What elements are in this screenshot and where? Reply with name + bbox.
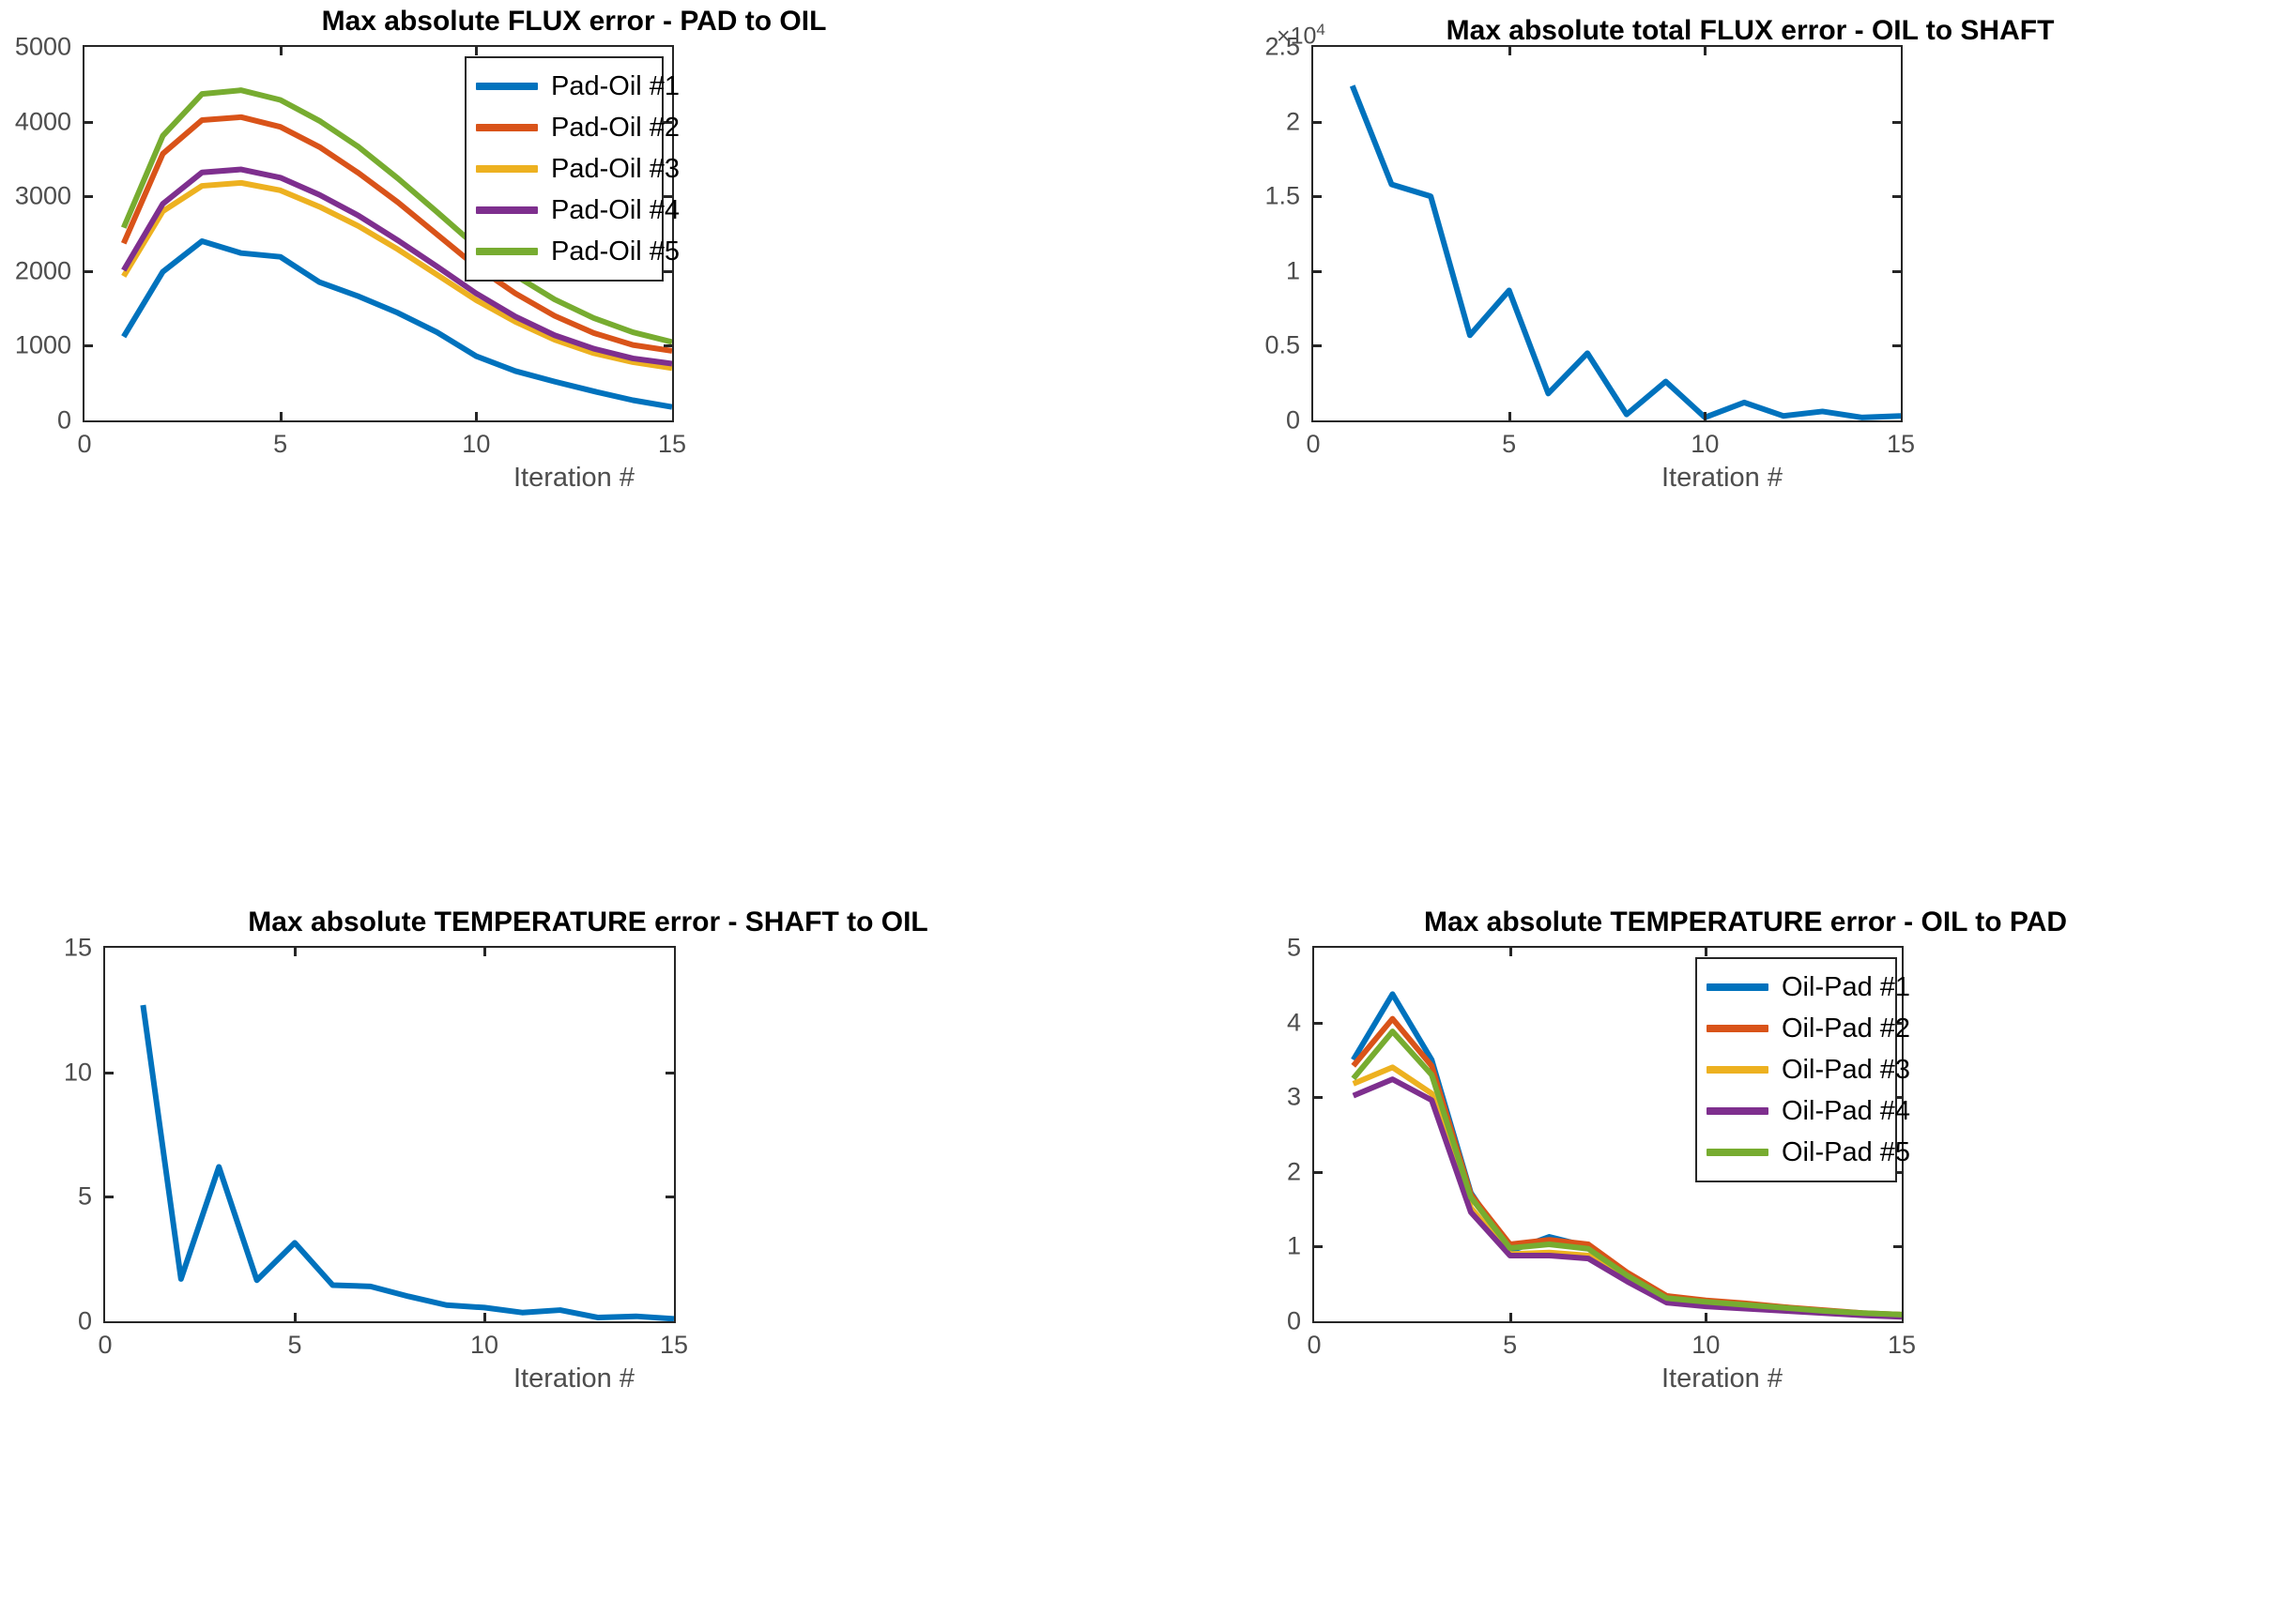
legend-item[interactable]: Oil-Pad #2 (1707, 1008, 1884, 1049)
plot-area (103, 946, 676, 1323)
y-tick-label: 3 (1148, 1083, 1301, 1112)
legend-color-swatch (476, 206, 538, 214)
y-tick-mark (1314, 1096, 1323, 1099)
x-tick-label: 15 (660, 1331, 688, 1360)
legend-label: Oil-Pad #1 (1782, 972, 1910, 1003)
legend-item[interactable]: Pad-Oil #1 (476, 66, 651, 107)
y-tick-label: 0.5 (1148, 331, 1300, 360)
x-tick-label: 15 (1887, 430, 1915, 459)
subplot-total-flux-oil-to-shaft: Max absolute total FLUX error - OIL to S… (1148, 0, 2296, 526)
y-tick-label: 2000 (0, 256, 71, 285)
y-tick-mark (1314, 1171, 1323, 1174)
y-tick-mark (105, 1196, 114, 1198)
legend-item[interactable]: Oil-Pad #4 (1707, 1090, 1884, 1132)
y-tick-label: 1.5 (1148, 182, 1300, 211)
y-tick-mark (1313, 195, 1322, 198)
y-tick-label: 10 (0, 1058, 92, 1087)
x-tick-label: 10 (462, 430, 490, 459)
subplot-title: Max absolute total FLUX error - OIL to S… (1204, 17, 2296, 45)
x-tick-mark (294, 1313, 297, 1321)
x-tick-mark (1509, 948, 1512, 956)
y-tick-label: 0 (0, 1307, 92, 1336)
x-tick-mark (1705, 1313, 1707, 1321)
legend-item[interactable]: Pad-Oil #3 (476, 148, 651, 190)
legend-color-swatch (476, 165, 538, 173)
plot-area (1311, 45, 1903, 422)
legend-item[interactable]: Oil-Pad #1 (1707, 967, 1884, 1008)
x-tick-mark (1508, 412, 1511, 420)
legend-item[interactable]: Oil-Pad #5 (1707, 1132, 1884, 1173)
plot-lines (1313, 47, 1901, 420)
y-tick-mark (84, 195, 93, 198)
x-tick-label: 10 (470, 1331, 498, 1360)
y-tick-mark (666, 1072, 674, 1074)
y-tick-label: 1 (1148, 256, 1300, 285)
y-tick-label: 1000 (0, 331, 71, 360)
x-tick-mark (280, 47, 283, 55)
y-tick-label: 0 (1148, 406, 1300, 435)
y-tick-label: 4000 (0, 107, 71, 136)
x-axis-label: Iteration # (1148, 1364, 2296, 1394)
y-tick-label: 0 (0, 406, 71, 435)
x-tick-mark (294, 948, 297, 956)
subplot-temperature-shaft-to-oil: Max absolute TEMPERATURE error - SHAFT t… (0, 807, 1148, 1333)
x-axis-label: Iteration # (0, 463, 1148, 494)
legend-label: Oil-Pad #3 (1782, 1055, 1910, 1086)
subplot-flux-pad-to-oil: Max absolute FLUX error - PAD to OIL 010… (0, 0, 1148, 526)
x-tick-mark (1704, 47, 1707, 55)
x-tick-label: 0 (1307, 1331, 1321, 1360)
legend-label: Pad-Oil #2 (551, 113, 680, 144)
x-tick-label: 15 (658, 430, 686, 459)
y-tick-label: 2.5 (1148, 33, 1300, 62)
subplot-title: Max absolute TEMPERATURE error - OIL to … (1195, 908, 2296, 937)
legend-item[interactable]: Pad-Oil #2 (476, 107, 651, 148)
y-tick-mark (1314, 1022, 1323, 1025)
y-tick-mark (1314, 1245, 1323, 1248)
y-tick-mark (1892, 121, 1901, 124)
y-tick-mark (1892, 195, 1901, 198)
x-tick-label: 10 (1691, 1331, 1720, 1360)
x-tick-mark (1509, 1313, 1512, 1321)
legend-color-swatch (1707, 1149, 1768, 1156)
exponent-power: 4 (1316, 21, 1324, 38)
y-tick-mark (1892, 270, 1901, 273)
y-tick-mark (84, 344, 93, 347)
series-line (143, 1005, 674, 1318)
x-tick-label: 0 (1306, 430, 1320, 459)
legend-color-swatch (476, 248, 538, 255)
legend-label: Oil-Pad #5 (1782, 1137, 1910, 1168)
legend-color-swatch (476, 83, 538, 90)
y-tick-label: 3000 (0, 182, 71, 211)
y-tick-label: 5 (1148, 934, 1301, 963)
legend-color-swatch (1707, 1107, 1768, 1115)
y-tick-label: 2 (1148, 1157, 1301, 1186)
x-tick-mark (483, 948, 486, 956)
y-tick-mark (1892, 344, 1901, 347)
y-tick-label: 15 (0, 934, 92, 963)
y-tick-label: 5 (0, 1182, 92, 1211)
matlab-figure: Max absolute FLUX error - PAD to OIL 010… (0, 0, 2296, 1615)
legend-label: Pad-Oil #4 (551, 195, 680, 226)
x-tick-mark (1705, 948, 1707, 956)
legend-item[interactable]: Pad-Oil #5 (476, 231, 651, 272)
legend-color-swatch (476, 124, 538, 131)
subplot-title: Max absolute FLUX error - PAD to OIL (0, 8, 1148, 36)
legend-label: Oil-Pad #4 (1782, 1096, 1910, 1127)
y-tick-label: 0 (1148, 1307, 1301, 1336)
y-tick-mark (664, 344, 672, 347)
x-tick-label: 0 (98, 1331, 112, 1360)
y-tick-mark (105, 1072, 114, 1074)
subplot-title: Max absolute TEMPERATURE error - SHAFT t… (28, 908, 1148, 937)
legend-label: Pad-Oil #3 (551, 154, 680, 185)
x-tick-mark (1704, 412, 1707, 420)
y-tick-label: 1 (1148, 1232, 1301, 1261)
x-axis-label: Iteration # (1148, 463, 2296, 494)
legend[interactable]: Oil-Pad #1Oil-Pad #2Oil-Pad #3Oil-Pad #4… (1695, 957, 1897, 1182)
legend[interactable]: Pad-Oil #1Pad-Oil #2Pad-Oil #3Pad-Oil #4… (465, 56, 664, 282)
x-tick-label: 15 (1888, 1331, 1916, 1360)
legend-label: Oil-Pad #2 (1782, 1013, 1910, 1044)
y-tick-mark (1313, 344, 1322, 347)
x-tick-label: 5 (287, 1331, 301, 1360)
legend-color-swatch (1707, 983, 1768, 991)
x-tick-mark (1508, 47, 1511, 55)
subplot-temperature-oil-to-pad: Max absolute TEMPERATURE error - OIL to … (1148, 807, 2296, 1333)
y-tick-mark (84, 121, 93, 124)
legend-item[interactable]: Oil-Pad #3 (1707, 1049, 1884, 1090)
y-tick-mark (1893, 1245, 1902, 1248)
x-tick-mark (475, 412, 478, 420)
x-tick-mark (475, 47, 478, 55)
y-tick-mark (84, 270, 93, 273)
series-line (1353, 85, 1901, 417)
legend-color-swatch (1707, 1066, 1768, 1074)
x-tick-mark (280, 412, 283, 420)
x-tick-mark (483, 1313, 486, 1321)
x-tick-label: 0 (77, 430, 91, 459)
x-tick-label: 5 (273, 430, 287, 459)
legend-label: Pad-Oil #1 (551, 71, 680, 102)
y-tick-mark (1313, 121, 1322, 124)
y-tick-label: 4 (1148, 1008, 1301, 1037)
plot-lines (105, 948, 674, 1321)
y-tick-mark (1313, 270, 1322, 273)
x-tick-label: 10 (1691, 430, 1719, 459)
y-tick-label: 5000 (0, 33, 71, 62)
x-axis-label: Iteration # (0, 1364, 1148, 1394)
x-tick-label: 5 (1502, 430, 1516, 459)
y-tick-mark (666, 1196, 674, 1198)
legend-item[interactable]: Pad-Oil #4 (476, 190, 651, 231)
y-tick-mark (664, 270, 672, 273)
x-tick-label: 5 (1503, 1331, 1517, 1360)
legend-label: Pad-Oil #5 (551, 236, 680, 267)
y-tick-label: 2 (1148, 107, 1300, 136)
legend-color-swatch (1707, 1025, 1768, 1032)
